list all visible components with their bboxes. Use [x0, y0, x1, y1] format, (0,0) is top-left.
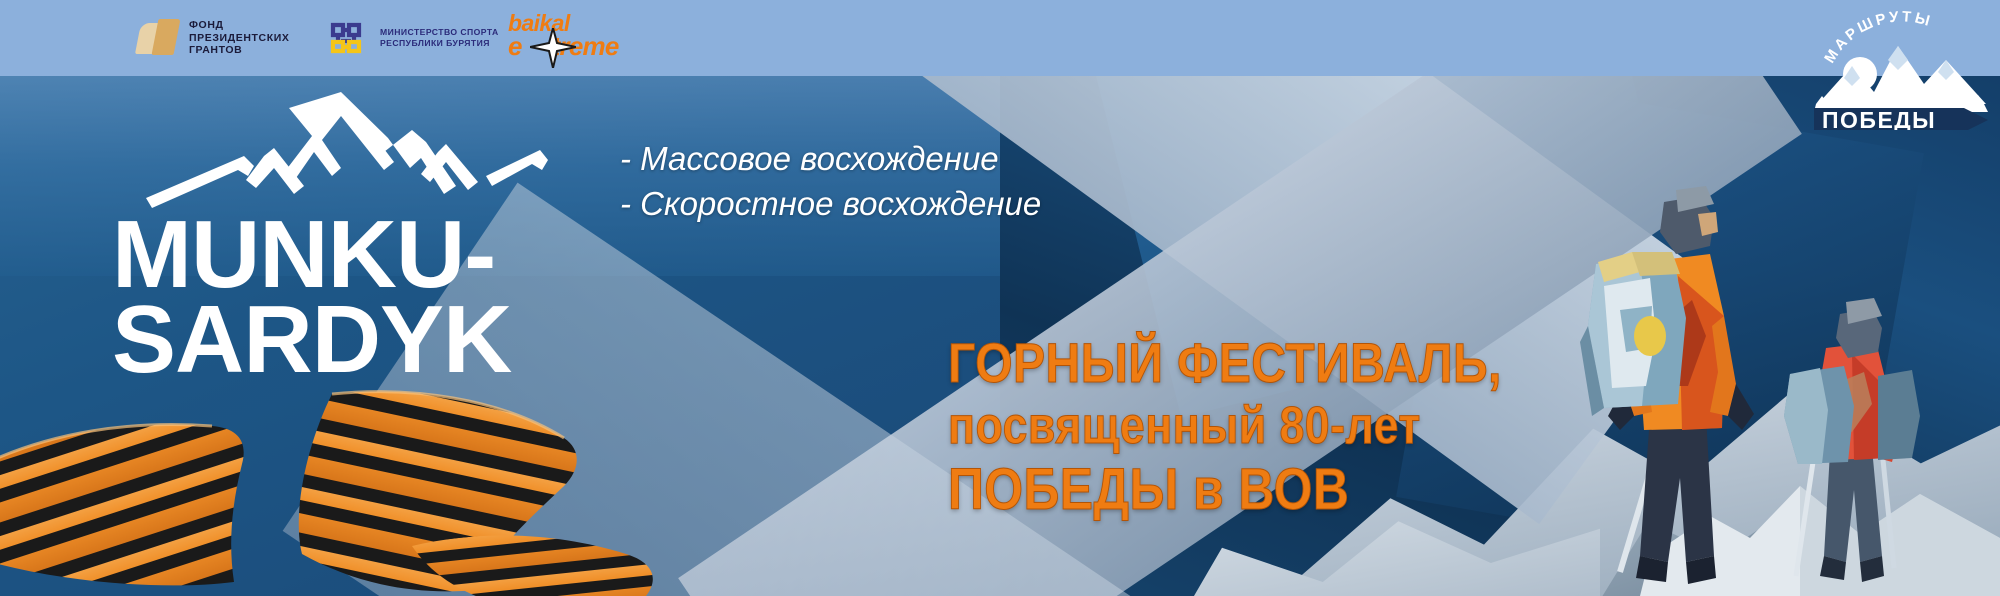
sponsor-strip: ФОНД ПРЕЗИДЕНТСКИХ ГРАНТОВ [0, 0, 2000, 76]
festival-banner: MUNKU- SARDYK - Массовое восхождение - С… [0, 0, 2000, 596]
fund-line-1: ФОНД [189, 19, 290, 32]
fund-line-2: ПРЕЗИДЕНТСКИХ [189, 32, 290, 45]
headline-line-1: ГОРНЫЙ ФЕСТИВАЛЬ, [948, 331, 1502, 395]
compass-star-icon [530, 28, 576, 68]
fund-mark-icon [138, 17, 180, 59]
extreme-prefix: e [508, 31, 522, 61]
headline-line-2: посвященный 80-лет [948, 395, 1502, 457]
festival-headline: ГОРНЫЙ ФЕСТИВАЛЬ, посвященный 80-лет ПОБ… [948, 331, 1592, 523]
ministry-logo-text: МИНИСТЕРСТВО СПОРТА РЕСПУБЛИКИ БУРЯТИЯ [380, 27, 499, 49]
banner-artwork: MUNKU- SARDYK - Массовое восхождение - С… [0, 76, 2000, 596]
buryatia-knot-icon [322, 14, 370, 62]
list-item: - Скоростное восхождение [620, 181, 1041, 226]
munku-sardyk-logo: MUNKU- SARDYK [108, 90, 578, 381]
ministry-line-1: МИНИСТЕРСТВО СПОРТА [380, 27, 499, 38]
fund-line-3: ГРАНТОВ [189, 44, 290, 57]
fund-presidential-grants-logo: ФОНД ПРЕЗИДЕНТСКИХ ГРАНТОВ [138, 17, 290, 59]
ministry-of-sport-buryatia-logo: МИНИСТЕРСТВО СПОРТА РЕСПУБЛИКИ БУРЯТИЯ [322, 14, 499, 62]
brand-line-1: MUNKU- [112, 214, 578, 297]
baikal-extreme-logo: baikal etreme [508, 13, 648, 63]
headline-line-3: ПОБЕДЫ в ВОВ [948, 457, 1502, 523]
badge-bottom-text: ПОБЕДЫ [1822, 107, 1936, 130]
list-item: - Массовое восхождение [620, 136, 1041, 181]
st-george-ribbon [0, 346, 720, 596]
activities-list: - Массовое восхождение - Скоростное восх… [620, 136, 1041, 226]
climber-left [1580, 186, 1754, 584]
marshruty-pobedy-badge: МАРШРУТЫ ПОБЕДЫ [1812, 0, 1992, 130]
ministry-line-2: РЕСПУБЛИКИ БУРЯТИЯ [380, 38, 499, 49]
fund-logo-text: ФОНД ПРЕЗИДЕНТСКИХ ГРАНТОВ [189, 19, 290, 57]
extreme-word: etreme [508, 34, 648, 59]
